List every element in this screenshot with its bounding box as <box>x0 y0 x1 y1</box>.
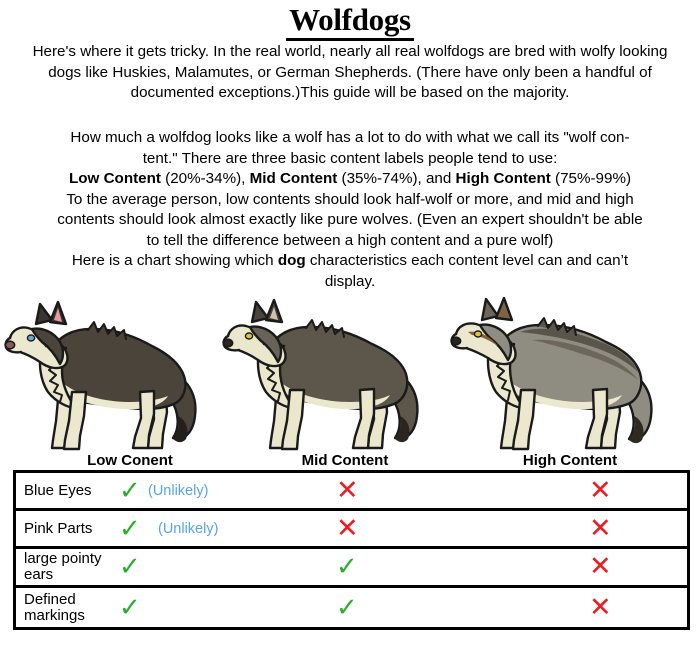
trait-label: Pink Parts <box>24 521 92 537</box>
content-line-7-prefix: Here is a chart showing which <box>72 252 278 269</box>
low-content-mark: ✓ <box>119 554 141 580</box>
low-content-label: Low Content <box>69 170 161 187</box>
content-line-1-text: How much a wolfdog looks like a wolf has… <box>70 129 629 146</box>
low-content-mark: ✓ <box>119 595 141 621</box>
high-content-mark: ✕ <box>589 595 612 621</box>
trait-label: large pointy ears <box>24 551 102 583</box>
page-title-text: Wolfdogs <box>286 2 414 41</box>
content-line-4: To the average person, low contents shou… <box>22 190 678 211</box>
mid-content-mark: ✕ <box>336 516 359 542</box>
high-content-wolfdog-illustration <box>448 288 663 453</box>
low-content-wolfdog-illustration <box>2 288 207 453</box>
mid-content-mark: ✓ <box>336 595 358 621</box>
mid-content-range: (35%-74%), and <box>337 170 455 187</box>
content-line-1: How much a wolfdog looks like a wolf has… <box>22 128 678 149</box>
trait-label: Defined markings <box>24 592 85 624</box>
mid-content-label: Mid Content <box>250 170 338 187</box>
low-content-note: (Unlikely) <box>148 483 208 499</box>
high-content-figure-label: High Content <box>470 452 670 470</box>
content-line-5-text: contents should look almost exactly like… <box>57 211 642 228</box>
low-content-mark: ✓ <box>119 516 141 542</box>
content-explanation: How much a wolfdog looks like a wolf has… <box>22 128 678 292</box>
content-line-6-text: to tell the difference between a high co… <box>147 232 554 249</box>
high-content-mark: ✕ <box>589 516 612 542</box>
low-content-figure-label: Low Conent <box>30 452 230 470</box>
mid-content-mark: ✓ <box>336 554 358 580</box>
table-row: Blue Eyes ✓ (Unlikely) ✕ ✕ <box>16 473 687 511</box>
table-row: Defined markings ✓ ✓ ✕ <box>16 588 687 627</box>
mid-content-figure-label: Mid Content <box>245 452 445 470</box>
content-line-7-suffix: characteristics each content level can a… <box>306 252 629 269</box>
high-content-mark: ✕ <box>589 478 612 504</box>
content-line-8-text: display. <box>325 273 375 290</box>
content-levels-line: Low Content (20%-34%), Mid Content (35%-… <box>22 169 678 190</box>
page-title: Wolfdogs <box>0 2 700 38</box>
content-line-5: contents should look almost exactly like… <box>22 210 678 231</box>
poster-page: Wolfdogs Here's where it gets tricky. In… <box>0 0 700 648</box>
low-content-range: (20%-34%), <box>161 170 250 187</box>
intro-paragraph: Here's where it gets tricky. In the real… <box>22 42 678 104</box>
table-row: Pink Parts ✓ (Unlikely) ✕ ✕ <box>16 511 687 549</box>
characteristics-chart: Blue Eyes ✓ (Unlikely) ✕ ✕ Pink Parts ✓ … <box>13 470 690 630</box>
high-content-mark: ✕ <box>589 554 612 580</box>
content-line-2: tent." There are three basic content lab… <box>22 149 678 170</box>
low-content-mark: ✓ <box>119 478 141 504</box>
content-line-6: to tell the difference between a high co… <box>22 231 678 252</box>
high-content-range: (75%-99%) <box>551 170 631 187</box>
intro-paragraph-text: Here's where it gets tricky. In the real… <box>33 43 668 101</box>
trait-label: Blue Eyes <box>24 483 92 499</box>
low-content-note: (Unlikely) <box>158 521 218 537</box>
mid-content-wolfdog-illustration <box>222 288 427 453</box>
mid-content-mark: ✕ <box>336 478 359 504</box>
high-content-label: High Content <box>456 170 551 187</box>
content-line-2-text: tent." There are three basic content lab… <box>143 150 558 167</box>
content-line-4-text: To the average person, low contents shou… <box>66 191 633 208</box>
content-line-7: Here is a chart showing which dog charac… <box>22 251 678 272</box>
table-row: large pointy ears ✓ ✓ ✕ <box>16 549 687 588</box>
content-line-7-emphasis: dog <box>278 252 306 269</box>
